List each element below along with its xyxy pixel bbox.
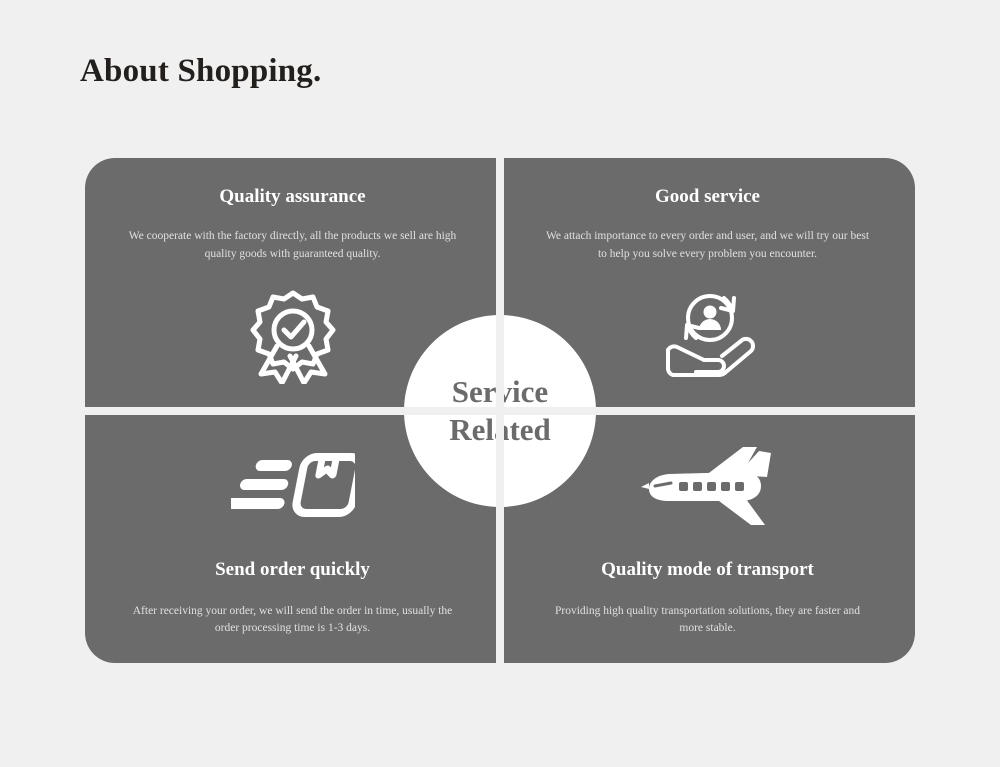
vertical-divider — [496, 158, 504, 663]
customer-support-hand-icon — [656, 290, 760, 382]
infographic-panel: Quality assurance We cooperate with the … — [85, 158, 915, 663]
airplane-icon — [639, 441, 777, 533]
quadrant-body-quality-mode-of-transport: Providing high quality transportation so… — [543, 603, 873, 639]
page-title: About Shopping. — [80, 53, 321, 90]
quadrant-heading-good-service: Good service — [655, 186, 760, 208]
quadrant-heading-send-order-quickly: Send order quickly — [215, 559, 370, 581]
quadrant-heading-quality-assurance: Quality assurance — [219, 186, 365, 208]
quadrant-body-quality-assurance: We cooperate with the factory directly, … — [128, 228, 458, 264]
quadrant-heading-quality-mode-of-transport: Quality mode of transport — [601, 559, 814, 581]
quadrant-body-send-order-quickly: After receiving your order, we will send… — [128, 603, 458, 639]
service-infographic: Quality assurance We cooperate with the … — [85, 158, 915, 663]
quadrant-body-good-service: We attach importance to every order and … — [543, 228, 873, 264]
fast-shipping-box-icon — [231, 441, 355, 533]
award-badge-icon — [247, 290, 339, 382]
